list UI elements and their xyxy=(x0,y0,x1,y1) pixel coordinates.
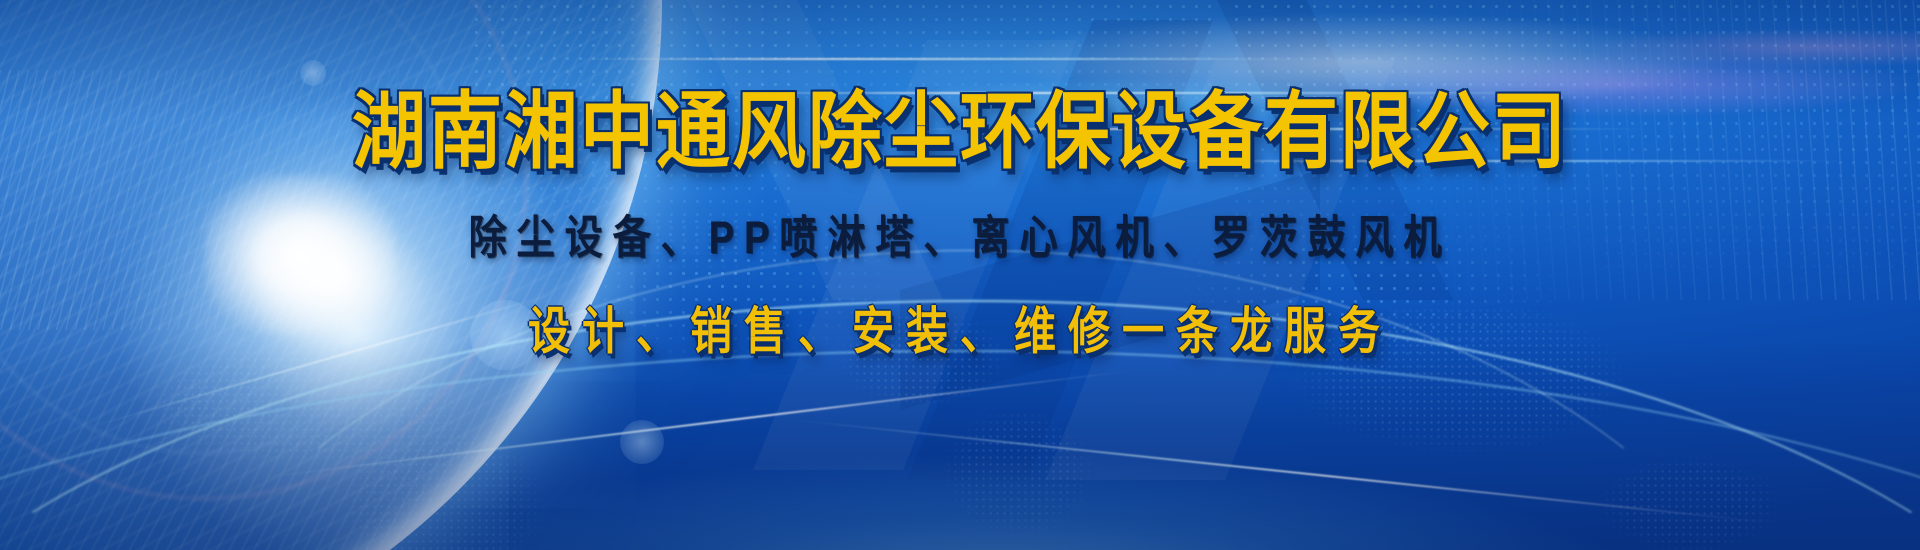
light-streak xyxy=(560,58,1380,60)
services-subtitle: 设计、销售、安装、维修一条龙服务 xyxy=(0,291,1920,364)
company-banner: 湖南湘中通风除尘环保设备有限公司 除尘设备、PP喷淋塔、离心风机、罗茨鼓风机 设… xyxy=(0,0,1920,550)
lens-flare-dot-icon xyxy=(300,60,326,86)
banner-text-block: 湖南湘中通风除尘环保设备有限公司 除尘设备、PP喷淋塔、离心风机、罗茨鼓风机 设… xyxy=(0,90,1920,352)
products-subtitle: 除尘设备、PP喷淋塔、离心风机、罗茨鼓风机 xyxy=(0,200,1920,266)
page-title: 湖南湘中通风除尘环保设备有限公司 xyxy=(0,90,1920,174)
